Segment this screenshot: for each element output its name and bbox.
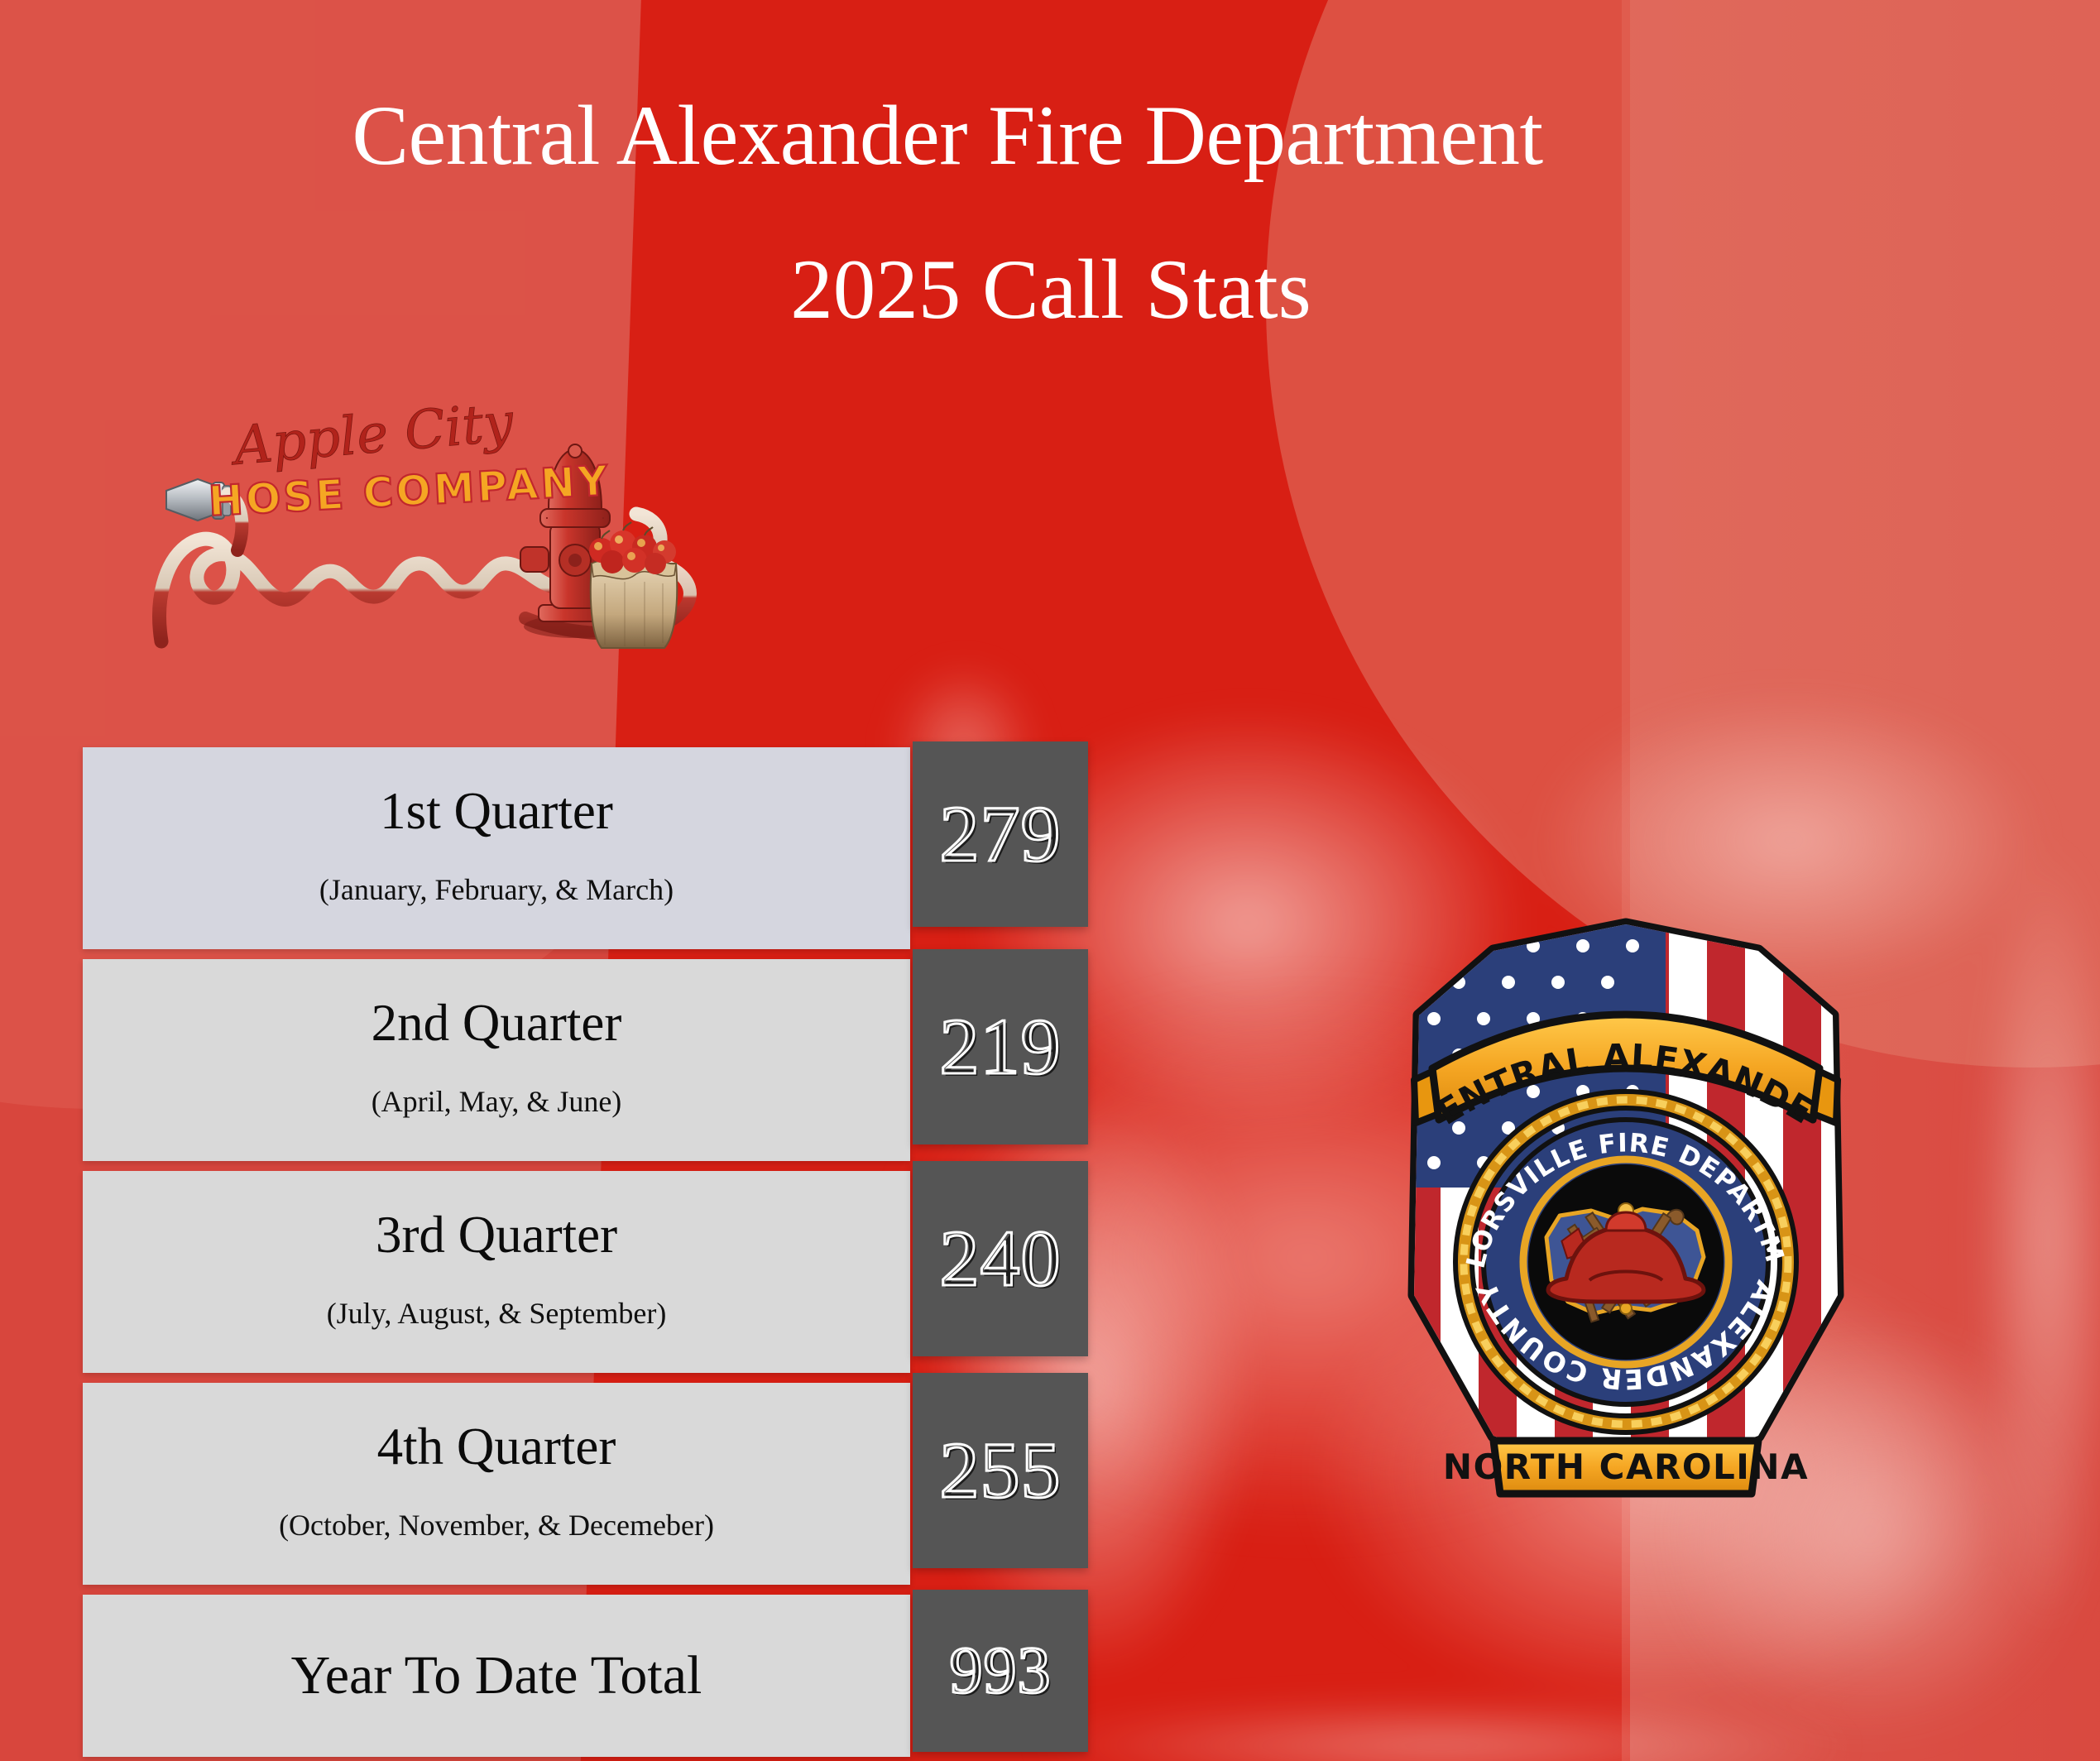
title-subtitle: 2025 Call Stats (0, 245, 1895, 334)
total-value-box: 993 (913, 1590, 1088, 1752)
total-value: 993 (950, 1638, 1052, 1704)
table-row: 2nd Quarter (April, May, & June) 219 (83, 959, 1117, 1161)
quarter-label-bar: 2nd Quarter (April, May, & June) (83, 959, 910, 1161)
quarter-months: (October, November, & Decemeber) (279, 1510, 714, 1540)
quarter-months: (July, August, & September) (327, 1298, 667, 1328)
quarter-value: 279 (940, 794, 1062, 874)
page-title: Central Alexander Fire Department 2025 C… (0, 91, 1895, 334)
call-stats-table: 1st Quarter (January, February, & March)… (83, 747, 1117, 1757)
total-label-bar: Year To Date Total (83, 1595, 910, 1757)
quarter-value-box: 219 (913, 949, 1088, 1144)
quarter-title: 1st Quarter (380, 785, 613, 837)
quarter-value-box: 240 (913, 1161, 1088, 1356)
quarter-value: 255 (940, 1431, 1062, 1510)
quarter-title: 4th Quarter (377, 1421, 616, 1473)
quarter-title: 2nd Quarter (372, 997, 622, 1049)
total-title: Year To Date Total (291, 1648, 702, 1703)
quarter-value: 240 (940, 1219, 1062, 1298)
table-row: 4th Quarter (October, November, & Deceme… (83, 1383, 1117, 1585)
apple-sack-icon (589, 522, 677, 648)
patch-bottom-banner-text: NORTH CAROLINA (1443, 1447, 1809, 1487)
table-row: 3rd Quarter (July, August, & September) … (83, 1171, 1117, 1373)
quarter-label-bar: 3rd Quarter (July, August, & September) (83, 1171, 910, 1373)
quarter-months: (January, February, & March) (319, 875, 674, 904)
quarter-label-bar: 4th Quarter (October, November, & Deceme… (83, 1383, 910, 1585)
quarter-months: (April, May, & June) (372, 1087, 622, 1116)
quarter-title: 3rd Quarter (376, 1209, 617, 1261)
quarter-value-box: 279 (913, 741, 1088, 927)
apple-city-hose-company-logo: Apple City HOSE COMPANY (137, 393, 699, 666)
quarter-value: 219 (940, 1007, 1062, 1087)
fire-department-patch-badge: CENTRAL ALEXANDER (1369, 906, 1882, 1535)
quarter-label-bar: 1st Quarter (January, February, & March) (83, 747, 910, 949)
table-row-total: Year To Date Total 993 (83, 1595, 1117, 1757)
title-department-name: Central Alexander Fire Department (0, 91, 1895, 180)
patch-bottom-banner: NORTH CAROLINA (1443, 1441, 1809, 1494)
quarter-value-box: 255 (913, 1373, 1088, 1568)
table-row: 1st Quarter (January, February, & March)… (83, 747, 1117, 949)
